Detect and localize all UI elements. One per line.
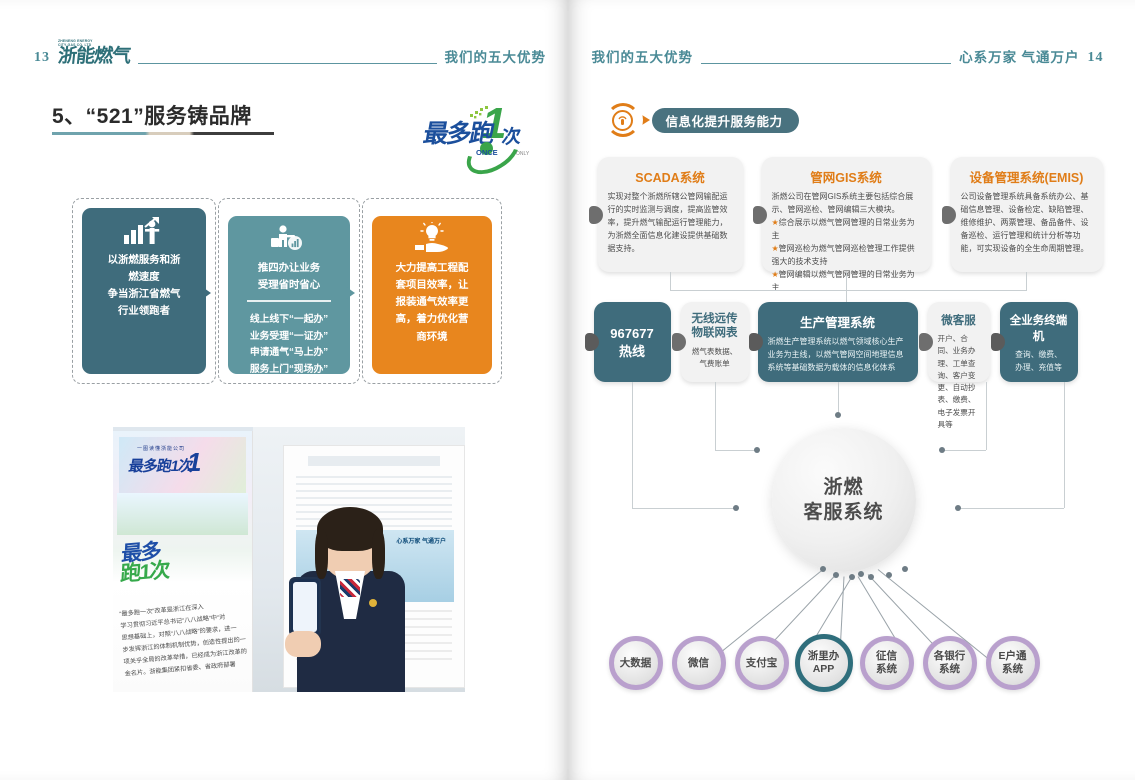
section-title: 5、“521”服务铸品牌 bbox=[52, 100, 252, 130]
connector-dot bbox=[754, 447, 760, 453]
service-person-icon bbox=[228, 216, 350, 254]
right-running-title-left: 我们的五大优势 bbox=[592, 46, 694, 66]
card-emis-body: 公司设备管理系统具备系统办公、基础信息管理、设备检定、缺陷管理、维修维护、两票管… bbox=[961, 191, 1093, 256]
channel-ehutong[interactable]: E户通 系统 bbox=[986, 636, 1040, 690]
fan-dot bbox=[833, 572, 839, 578]
left-page: 13 ZHENENG ENERGY CITY GAS CO. LTD 浙能燃气 … bbox=[0, 0, 568, 780]
fan-dot bbox=[886, 572, 892, 578]
fan-dot bbox=[902, 566, 908, 572]
photo-staff-person bbox=[295, 513, 407, 692]
connector-line bbox=[838, 382, 839, 414]
card-self-service-terminal-title: 全业务终端机 bbox=[1010, 312, 1068, 344]
connector-dot bbox=[939, 447, 945, 453]
card-hotline[interactable]: 967677 热线 bbox=[594, 302, 671, 382]
connector-line bbox=[960, 508, 1064, 509]
card-nub-icon bbox=[753, 206, 767, 224]
card-hotline-title: 967677 热线 bbox=[610, 326, 653, 360]
campaign-en: ONCE bbox=[476, 148, 498, 157]
book-spread: 13 ZHENENG ENERGY CITY GAS CO. LTD 浙能燃气 … bbox=[0, 0, 1135, 780]
card-self-service-terminal-body: 查询、缴费、 办理、充值等 bbox=[1010, 349, 1068, 374]
photo-staff-banner: 一图读懂浙能公司 最多跑1次 1 最多 跑1次 “最多跑一次”改革是浙江在深入学… bbox=[113, 427, 465, 692]
card-nub-icon bbox=[589, 206, 603, 224]
connector-line bbox=[846, 272, 847, 290]
fan-dot bbox=[868, 574, 874, 580]
channel-circle-row: 大数据 微信 支付宝 浙里办 APP 征信 系统 各银行 系统 E户通 系统 bbox=[584, 636, 1124, 694]
advantage-box-3[interactable]: 大力提高工程配 套项目效率，让 报装通气效率更 高，着力优化营 商环境 bbox=[372, 216, 492, 374]
hub-line-2: 客服系统 bbox=[803, 500, 883, 525]
left-head-rule bbox=[138, 63, 436, 64]
card-nub-icon bbox=[919, 333, 933, 351]
connector-line bbox=[670, 290, 1027, 291]
card-iot-meter-body: 燃气表数据、 气费账单 bbox=[691, 346, 739, 371]
photo-banner-top: 一图读懂浙能公司 最多跑1次 1 bbox=[119, 437, 246, 499]
campaign-logo: 1 最多跑 次 ONCE ONLY bbox=[424, 104, 544, 166]
photo-smartphone bbox=[289, 577, 321, 637]
connector-line bbox=[632, 508, 736, 509]
card-production-mgmt-title: 生产管理系统 bbox=[768, 312, 908, 331]
star-icon: ★ bbox=[772, 270, 779, 279]
fan-dot bbox=[849, 574, 855, 580]
connector-line bbox=[715, 450, 757, 451]
card-nub-icon bbox=[749, 333, 763, 351]
section-underline bbox=[52, 132, 274, 135]
card-self-service-terminal[interactable]: 全业务终端机 查询、缴费、 办理、充值等 bbox=[1000, 302, 1078, 382]
photo-banner-sub: 一图读懂浙能公司 bbox=[137, 445, 185, 452]
connector-line bbox=[1026, 272, 1027, 290]
card-gis-title: 管网GIS系统 bbox=[772, 167, 921, 186]
right-page-number: 14 bbox=[1088, 50, 1104, 66]
connector-dot bbox=[835, 412, 841, 418]
connector-line bbox=[632, 382, 633, 508]
connector-line bbox=[670, 272, 671, 290]
left-page-number: 13 bbox=[34, 50, 50, 66]
right-running-head: 我们的五大优势 心系万家 气通万户 14 bbox=[592, 44, 1104, 66]
card-nub-icon bbox=[991, 333, 1005, 351]
card-iot-meter-title: 无线远传 物联网表 bbox=[691, 312, 739, 341]
card-iot-meter[interactable]: 无线远传 物联网表 燃气表数据、 气费账单 bbox=[681, 302, 749, 382]
channel-banks[interactable]: 各银行 系统 bbox=[923, 636, 977, 690]
advantage-box-3-text: 大力提高工程配 套项目效率，让 报装通气效率更 高，着力优化营 商环境 bbox=[372, 254, 492, 346]
channel-zhelibanapp[interactable]: 浙里办 APP bbox=[795, 634, 853, 692]
tag-arrow-icon bbox=[642, 115, 650, 125]
card-emis-title: 设备管理系统(EMIS) bbox=[961, 167, 1093, 186]
connector-line bbox=[986, 382, 987, 450]
photo-background-hall: 心系万家 气通万户 bbox=[253, 427, 465, 692]
photo-rollup-banner: 一图读懂浙能公司 最多跑1次 1 最多 跑1次 “最多跑一次”改革是浙江在深入学… bbox=[113, 431, 253, 692]
connector-dot bbox=[955, 505, 961, 511]
logo-cn: 浙能燃气 bbox=[57, 48, 131, 65]
left-running-head: 13 ZHENENG ENERGY CITY GAS CO. LTD 浙能燃气 … bbox=[34, 44, 546, 66]
advantage-box-2-divider bbox=[247, 300, 331, 301]
card-emis[interactable]: 设备管理系统(EMIS) 公司设备管理系统具备系统办公、基础信息管理、设备检定、… bbox=[951, 157, 1103, 272]
card-scada-body: 实现对整个浙燃所辖公管网输配运行的实时监测与调度，提高监管效率，提升燃气输配运行… bbox=[608, 191, 733, 256]
photo-banner-title: 最多跑1次 bbox=[127, 455, 194, 476]
photo-banner-cityscape bbox=[117, 493, 248, 535]
company-logo: ZHENENG ENERGY CITY GAS CO. LTD 浙能燃气 bbox=[58, 39, 130, 66]
channel-alipay[interactable]: 支付宝 bbox=[735, 636, 789, 690]
fan-dot bbox=[820, 566, 826, 572]
campaign-tail: ONLY bbox=[516, 151, 529, 157]
card-wechat-service-body: 开户、合同、业务办理、工单查询、客户变更、自动抄表、缴费、电子发票开具等 bbox=[938, 333, 980, 431]
card-production-mgmt-body: 浙燃生产管理系统以燃气领域核心生产业务为主线，以燃气管网空间地理信息系统等基础数… bbox=[768, 336, 908, 375]
flow-arrow-1-icon bbox=[189, 286, 211, 300]
advantage-box-2[interactable]: 推四办让业务 受理省时省心 线上线下“一起办” 业务受理“一证办” 申请通气“马… bbox=[228, 216, 350, 374]
card-gis[interactable]: 管网GIS系统 浙燃公司在管网GIS系统主要包括综合展示、管网巡检、管网编辑三大… bbox=[762, 157, 931, 272]
advantage-box-2-heading: 推四办让业务 受理省时省心 bbox=[228, 254, 350, 294]
photo-banner-paragraph: “最多跑一次”改革是浙江在深入学习贯彻习近平总书记“八八战略”中“对 思想基础上… bbox=[119, 598, 252, 688]
channel-bigdata[interactable]: 大数据 bbox=[609, 636, 663, 690]
section-tag-label: 信息化提升服务能力 bbox=[652, 108, 799, 133]
card-production-mgmt[interactable]: 生产管理系统 浙燃生产管理系统以燃气领域核心生产业务为主线，以燃气管网空间地理信… bbox=[758, 302, 918, 382]
star-icon: ★ bbox=[772, 244, 779, 253]
bar-chart-person-icon bbox=[82, 208, 206, 246]
photo-board-title bbox=[308, 456, 440, 466]
fan-dot bbox=[858, 571, 864, 577]
connector-line bbox=[1064, 382, 1065, 508]
card-wechat-service-title: 微客服 bbox=[938, 312, 980, 328]
flow-arrow-2-icon bbox=[333, 286, 355, 300]
left-running-title: 我们的五大优势 bbox=[445, 46, 547, 66]
channel-wechat[interactable]: 微信 bbox=[672, 636, 726, 690]
star-icon: ★ bbox=[772, 218, 779, 227]
channel-credit[interactable]: 征信 系统 bbox=[860, 636, 914, 690]
connector-line bbox=[715, 382, 716, 450]
right-page: 我们的五大优势 心系万家 气通万户 14 信息化提升服务能力 SCADA系统 bbox=[568, 0, 1135, 780]
right-running-title-right: 心系万家 气通万户 bbox=[959, 46, 1079, 66]
advantage-box-1-text: 以浙燃服务和浙 燃速度 争当浙江省燃气 行业领跑者 bbox=[82, 246, 206, 321]
card-nub-icon bbox=[942, 206, 956, 224]
photo-banner-number: 1 bbox=[187, 447, 201, 478]
card-nub-icon bbox=[672, 333, 686, 351]
card-nub-icon bbox=[585, 333, 599, 351]
card-scada[interactable]: SCADA系统 实现对整个浙燃所辖公管网输配运行的实时监测与调度，提高监管效率，… bbox=[598, 157, 743, 272]
connector-line bbox=[944, 450, 986, 451]
connector-dot bbox=[733, 505, 739, 511]
photo-banner-bigword: 最多 跑1次 bbox=[120, 541, 170, 585]
section-tag: 信息化提升服务能力 bbox=[606, 105, 799, 135]
advantage-box-2-text: 线上线下“一起办” 业务受理“一证办” 申请通气“马上办” 服务上门“现场办” bbox=[228, 306, 350, 379]
right-head-rule bbox=[701, 63, 951, 64]
advantage-box-row: 以浙燃服务和浙 燃速度 争当浙江省燃气 行业领跑者 bbox=[72, 198, 502, 384]
card-scada-title: SCADA系统 bbox=[608, 167, 733, 186]
lightbulb-hand-icon bbox=[372, 216, 492, 254]
card-wechat-service[interactable]: 微客服 开户、合同、业务办理、工单查询、客户变更、自动抄表、缴费、电子发票开具等 bbox=[928, 302, 990, 382]
hub-line-1: 浙燃 bbox=[823, 475, 863, 500]
connector-line bbox=[846, 290, 847, 302]
advantage-box-1[interactable]: 以浙燃服务和浙 燃速度 争当浙江省燃气 行业领跑者 bbox=[82, 208, 206, 374]
hub-customer-service-system[interactable]: 浙燃 客服系统 bbox=[772, 428, 916, 572]
fan-line bbox=[840, 576, 844, 640]
antenna-touch-icon bbox=[606, 103, 640, 137]
